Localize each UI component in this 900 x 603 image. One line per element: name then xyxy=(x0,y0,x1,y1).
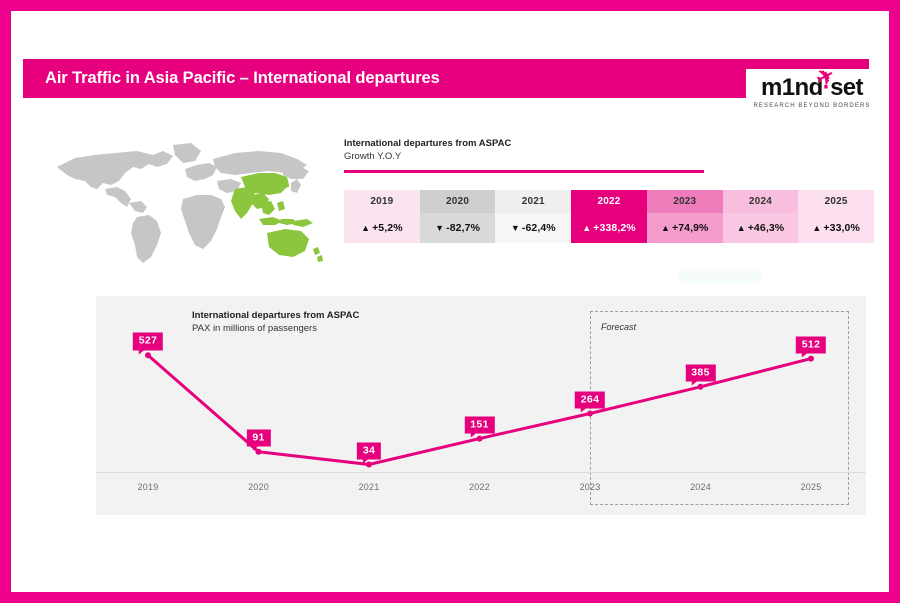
x-axis-tick-2025: 2025 xyxy=(801,482,822,492)
growth-column-2019: 2019 ▲+5,2% xyxy=(344,190,420,243)
growth-underline-rule xyxy=(344,170,704,173)
logo-tagline: RESEARCH BEYOND BORDERS xyxy=(754,103,871,109)
x-axis-tick-2021: 2021 xyxy=(359,482,380,492)
trend-up-icon: ▲ xyxy=(812,223,821,233)
logo-wordmark: m1nd·set ✈ xyxy=(761,76,863,100)
growth-value-2021: ▼-62,4% xyxy=(495,213,571,243)
series-point-2022 xyxy=(477,436,483,442)
growth-value-2024: ▲+46,3% xyxy=(723,213,799,243)
data-label-2020: 91 xyxy=(246,429,270,447)
growth-table: 2019 ▲+5,2% 2020 ▼-82,7% 2021 ▼-62,4% 20… xyxy=(344,190,874,243)
data-label-2019: 527 xyxy=(133,333,163,351)
growth-value-2025: ▲+33,0% xyxy=(798,213,874,243)
growth-column-2025: 2025 ▲+33,0% xyxy=(798,190,874,243)
x-axis-tick-2020: 2020 xyxy=(248,482,269,492)
x-axis-tick-labels: 2019202020212022202320242025 xyxy=(96,482,866,498)
data-label-2024: 385 xyxy=(685,364,715,382)
growth-column-2024: 2024 ▲+46,3% xyxy=(723,190,799,243)
growth-value-text-2021: -62,4% xyxy=(522,222,556,234)
growth-year-2022: 2022 xyxy=(571,190,647,213)
logo-word-part1: m1nd xyxy=(761,74,823,101)
series-point-2023 xyxy=(587,411,593,417)
series-point-2025 xyxy=(808,356,814,362)
series-point-2024 xyxy=(698,384,704,390)
growth-year-2021: 2021 xyxy=(495,190,571,213)
trend-up-icon: ▲ xyxy=(582,223,591,233)
trend-up-icon: ▲ xyxy=(361,223,370,233)
x-axis-tick-2024: 2024 xyxy=(690,482,711,492)
world-map xyxy=(45,137,327,269)
growth-value-text-2023: +74,9% xyxy=(672,222,709,234)
growth-column-2021: 2021 ▼-62,4% xyxy=(495,190,571,243)
growth-value-2023: ▲+74,9% xyxy=(647,213,723,243)
x-axis-tick-2023: 2023 xyxy=(580,482,601,492)
series-point-2019 xyxy=(145,352,151,358)
world-map-svg xyxy=(45,137,327,269)
trend-up-icon: ▲ xyxy=(661,223,670,233)
x-axis-tick-2022: 2022 xyxy=(469,482,490,492)
x-axis-tick-2019: 2019 xyxy=(138,482,159,492)
growth-value-text-2019: +5,2% xyxy=(372,222,403,234)
growth-year-2020: 2020 xyxy=(420,190,496,213)
growth-year-2024: 2024 xyxy=(723,190,799,213)
line-chart-panel: International departures from ASPAC PAX … xyxy=(96,296,866,515)
growth-heading-line2: Growth Y.O.Y xyxy=(344,151,874,164)
growth-value-text-2025: +33,0% xyxy=(823,222,860,234)
growth-value-text-2020: -82,7% xyxy=(446,222,480,234)
growth-year-2025: 2025 xyxy=(798,190,874,213)
growth-year-2019: 2019 xyxy=(344,190,420,213)
growth-value-text-2022: +338,2% xyxy=(593,222,635,234)
faint-artifact xyxy=(679,271,761,284)
growth-section: International departures from ASPAC Grow… xyxy=(344,138,874,173)
growth-value-2020: ▼-82,7% xyxy=(420,213,496,243)
map-highlight-aspac xyxy=(231,173,323,262)
growth-column-2020: 2020 ▼-82,7% xyxy=(420,190,496,243)
growth-heading-line1: International departures from ASPAC xyxy=(344,138,874,151)
growth-column-2022: 2022 ▲+338,2% xyxy=(571,190,647,243)
page-title: Air Traffic in Asia Pacific – Internatio… xyxy=(23,69,440,88)
data-label-2023: 264 xyxy=(575,391,605,409)
slide-title-bar: Air Traffic in Asia Pacific – Internatio… xyxy=(23,59,869,98)
growth-value-text-2024: +46,3% xyxy=(748,222,785,234)
data-label-2025: 512 xyxy=(796,336,826,354)
growth-value-2022: ▲+338,2% xyxy=(571,213,647,243)
trend-down-icon: ▼ xyxy=(435,223,444,233)
data-label-2022: 151 xyxy=(464,416,494,434)
brand-logo: m1nd·set ✈ RESEARCH BEYOND BORDERS xyxy=(746,69,878,113)
trend-down-icon: ▼ xyxy=(511,223,520,233)
data-label-2021: 34 xyxy=(357,442,381,460)
slide-root: Air Traffic in Asia Pacific – Internatio… xyxy=(0,0,900,603)
growth-column-2023: 2023 ▲+74,9% xyxy=(647,190,723,243)
trend-up-icon: ▲ xyxy=(737,223,746,233)
growth-year-2023: 2023 xyxy=(647,190,723,213)
growth-value-2019: ▲+5,2% xyxy=(344,213,420,243)
